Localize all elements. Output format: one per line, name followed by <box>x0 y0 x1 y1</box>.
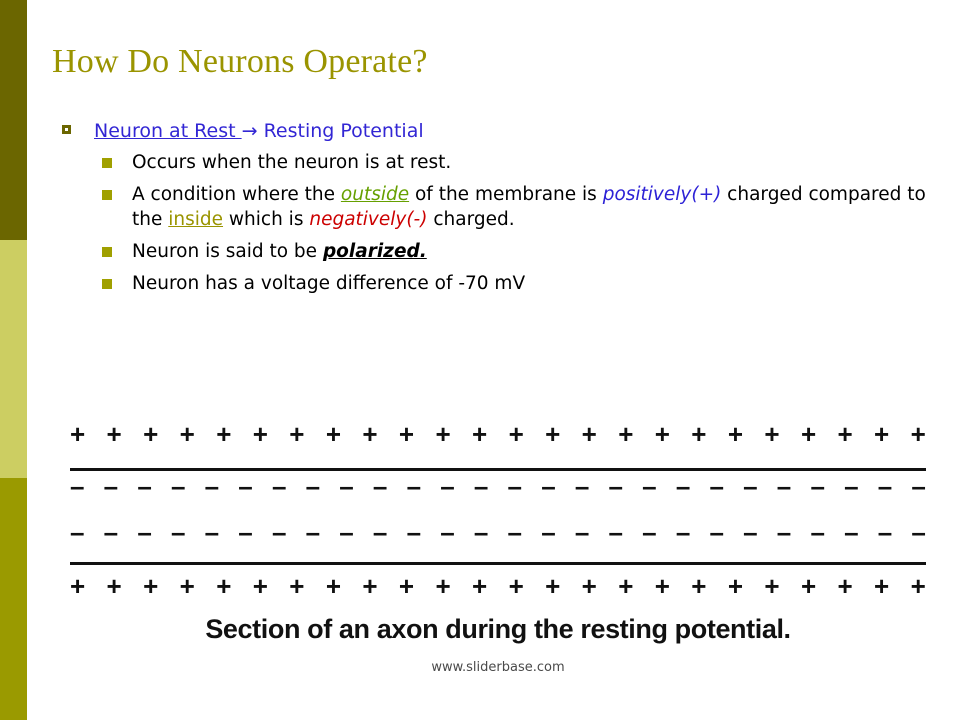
plus-charge-icon: + <box>764 422 779 446</box>
minus-charge-icon: – <box>70 520 84 544</box>
minus-charge-icon: – <box>171 474 185 498</box>
charge-row-plus-top: ++++++++++++++++++++++++ <box>70 422 926 446</box>
plus-charge-icon: + <box>655 422 670 446</box>
sidebar-band-bottom <box>0 478 27 720</box>
plus-charge-icon: + <box>545 574 560 598</box>
arrow-icon: → <box>242 120 258 142</box>
bullet-text-polarized-p1: Neuron is said to be <box>132 241 323 262</box>
plus-charge-icon: + <box>618 574 633 598</box>
membrane-line-bottom <box>70 562 926 565</box>
hollow-square-bullet-icon <box>62 125 71 134</box>
plus-charge-icon: + <box>326 422 341 446</box>
plus-charge-icon: + <box>472 574 487 598</box>
diagram-caption: Section of an axon during the resting po… <box>70 614 926 645</box>
plus-charge-icon: + <box>362 574 377 598</box>
plus-charge-icon: + <box>399 422 414 446</box>
plus-charge-icon: + <box>728 574 743 598</box>
minus-charge-icon: – <box>339 474 353 498</box>
minus-charge-icon: – <box>306 474 320 498</box>
minus-charge-icon: – <box>743 520 757 544</box>
plus-charge-icon: + <box>837 574 852 598</box>
plus-charge-icon: + <box>509 422 524 446</box>
minus-charge-icon: – <box>777 520 791 544</box>
membrane-line-top <box>70 468 926 471</box>
plus-charge-icon: + <box>180 574 195 598</box>
minus-charge-icon: – <box>609 474 623 498</box>
minus-charge-icon: – <box>440 474 454 498</box>
filled-square-bullet-icon <box>102 247 112 257</box>
plus-charge-icon: + <box>143 574 158 598</box>
emphasis-outside: outside <box>341 184 409 205</box>
minus-charge-icon: – <box>508 474 522 498</box>
plus-charge-icon: + <box>180 422 195 446</box>
watermark: www.sliderbase.com <box>70 660 926 675</box>
minus-charge-icon: – <box>676 520 690 544</box>
plus-charge-icon: + <box>582 422 597 446</box>
minus-charge-icon: – <box>810 474 824 498</box>
plus-charge-icon: + <box>70 574 85 598</box>
bullet-text-condition-p1: A condition where the <box>132 184 341 205</box>
minus-charge-icon: – <box>272 520 286 544</box>
minus-charge-icon: – <box>238 520 252 544</box>
minus-charge-icon: – <box>541 474 555 498</box>
minus-charge-icon: – <box>810 520 824 544</box>
sub-bullet-list: Occurs when the neuron is at rest. A con… <box>58 150 938 296</box>
plus-charge-icon: + <box>399 574 414 598</box>
minus-charge-icon: – <box>104 474 118 498</box>
axon-resting-potential-diagram: ++++++++++++++++++++++++ –––––––––––––––… <box>70 412 930 682</box>
plus-charge-icon: + <box>362 422 377 446</box>
plus-charge-icon: + <box>435 574 450 598</box>
bullet-text-condition-p5: charged. <box>427 209 514 230</box>
emphasis-inside: inside <box>168 209 223 230</box>
plus-charge-icon: + <box>801 574 816 598</box>
emphasis-polarized: polarized. <box>323 241 427 262</box>
plus-charge-icon: + <box>253 574 268 598</box>
minus-charge-icon: – <box>272 474 286 498</box>
minus-charge-icon: – <box>339 520 353 544</box>
sidebar-band-middle <box>0 240 27 478</box>
minus-charge-icon: – <box>407 520 421 544</box>
plus-charge-icon: + <box>216 574 231 598</box>
plus-charge-icon: + <box>107 574 122 598</box>
bullet-text-condition-p2: of the membrane is <box>409 184 603 205</box>
minus-charge-icon: – <box>205 520 219 544</box>
bullet-text-condition-p4: which is <box>223 209 309 230</box>
plus-charge-icon: + <box>691 422 706 446</box>
page-title: How Do Neurons Operate? <box>52 42 428 82</box>
plus-charge-icon: + <box>618 422 633 446</box>
plus-charge-icon: + <box>655 574 670 598</box>
plus-charge-icon: + <box>728 422 743 446</box>
minus-charge-icon: – <box>642 520 656 544</box>
list-item: Neuron is said to be polarized. <box>100 239 938 264</box>
emphasis-negatively: negatively(-) <box>309 209 427 230</box>
plus-charge-icon: + <box>764 574 779 598</box>
charge-row-minus-top: –––––––––––––––––––––––––– <box>70 474 926 498</box>
plus-charge-icon: + <box>509 574 524 598</box>
charge-row-plus-bottom: ++++++++++++++++++++++++ <box>70 574 926 598</box>
filled-square-bullet-icon <box>102 158 112 168</box>
minus-charge-icon: – <box>508 520 522 544</box>
list-item: Occurs when the neuron is at rest. <box>100 150 938 175</box>
plus-charge-icon: + <box>691 574 706 598</box>
plus-charge-icon: + <box>801 422 816 446</box>
minus-charge-icon: – <box>373 520 387 544</box>
minus-charge-icon: – <box>306 520 320 544</box>
plus-charge-icon: + <box>289 422 304 446</box>
minus-charge-icon: – <box>709 520 723 544</box>
plus-charge-icon: + <box>70 422 85 446</box>
bullet-level1-tail: Resting Potential <box>258 120 424 142</box>
minus-charge-icon: – <box>474 520 488 544</box>
minus-charge-icon: – <box>238 474 252 498</box>
plus-charge-icon: + <box>837 422 852 446</box>
minus-charge-icon: – <box>878 474 892 498</box>
minus-charge-icon: – <box>70 474 84 498</box>
minus-charge-icon: – <box>575 474 589 498</box>
minus-charge-icon: – <box>743 474 757 498</box>
sidebar-band-top <box>0 0 27 240</box>
minus-charge-icon: – <box>844 520 858 544</box>
list-item: Neuron has a voltage difference of -70 m… <box>100 271 938 296</box>
minus-charge-icon: – <box>777 474 791 498</box>
bullet-text-occurs: Occurs when the neuron is at rest. <box>132 152 451 173</box>
minus-charge-icon: – <box>474 474 488 498</box>
minus-charge-icon: – <box>104 520 118 544</box>
minus-charge-icon: – <box>609 520 623 544</box>
plus-charge-icon: + <box>289 574 304 598</box>
plus-charge-icon: + <box>107 422 122 446</box>
bullet-text-voltage: Neuron has a voltage difference of -70 m… <box>132 273 525 294</box>
plus-charge-icon: + <box>911 422 926 446</box>
plus-charge-icon: + <box>911 574 926 598</box>
plus-charge-icon: + <box>874 422 889 446</box>
minus-charge-icon: – <box>575 520 589 544</box>
minus-charge-icon: – <box>642 474 656 498</box>
minus-charge-icon: – <box>844 474 858 498</box>
plus-charge-icon: + <box>326 574 341 598</box>
minus-charge-icon: – <box>911 520 925 544</box>
slide: How Do Neurons Operate? Neuron at Rest →… <box>0 0 960 720</box>
minus-charge-icon: – <box>878 520 892 544</box>
minus-charge-icon: – <box>709 474 723 498</box>
filled-square-bullet-icon <box>102 190 112 200</box>
plus-charge-icon: + <box>582 574 597 598</box>
minus-charge-icon: – <box>137 474 151 498</box>
plus-charge-icon: + <box>253 422 268 446</box>
plus-charge-icon: + <box>143 422 158 446</box>
minus-charge-icon: – <box>440 520 454 544</box>
content-body: Neuron at Rest → Resting Potential Occur… <box>58 118 938 303</box>
bullet-level1-resting-potential: Neuron at Rest → Resting Potential <box>58 118 938 144</box>
minus-charge-icon: – <box>541 520 555 544</box>
minus-charge-icon: – <box>676 474 690 498</box>
decorative-sidebar <box>0 0 27 720</box>
charge-row-minus-bottom: –––––––––––––––––––––––––– <box>70 520 926 544</box>
filled-square-bullet-icon <box>102 279 112 289</box>
plus-charge-icon: + <box>874 574 889 598</box>
minus-charge-icon: – <box>137 520 151 544</box>
minus-charge-icon: – <box>911 474 925 498</box>
list-item: A condition where the outside of the mem… <box>100 182 938 232</box>
minus-charge-icon: – <box>171 520 185 544</box>
plus-charge-icon: + <box>216 422 231 446</box>
minus-charge-icon: – <box>205 474 219 498</box>
minus-charge-icon: – <box>373 474 387 498</box>
link-neuron-at-rest[interactable]: Neuron at Rest <box>94 120 242 142</box>
plus-charge-icon: + <box>545 422 560 446</box>
plus-charge-icon: + <box>472 422 487 446</box>
emphasis-positively: positively(+) <box>603 184 722 205</box>
plus-charge-icon: + <box>435 422 450 446</box>
minus-charge-icon: – <box>407 474 421 498</box>
